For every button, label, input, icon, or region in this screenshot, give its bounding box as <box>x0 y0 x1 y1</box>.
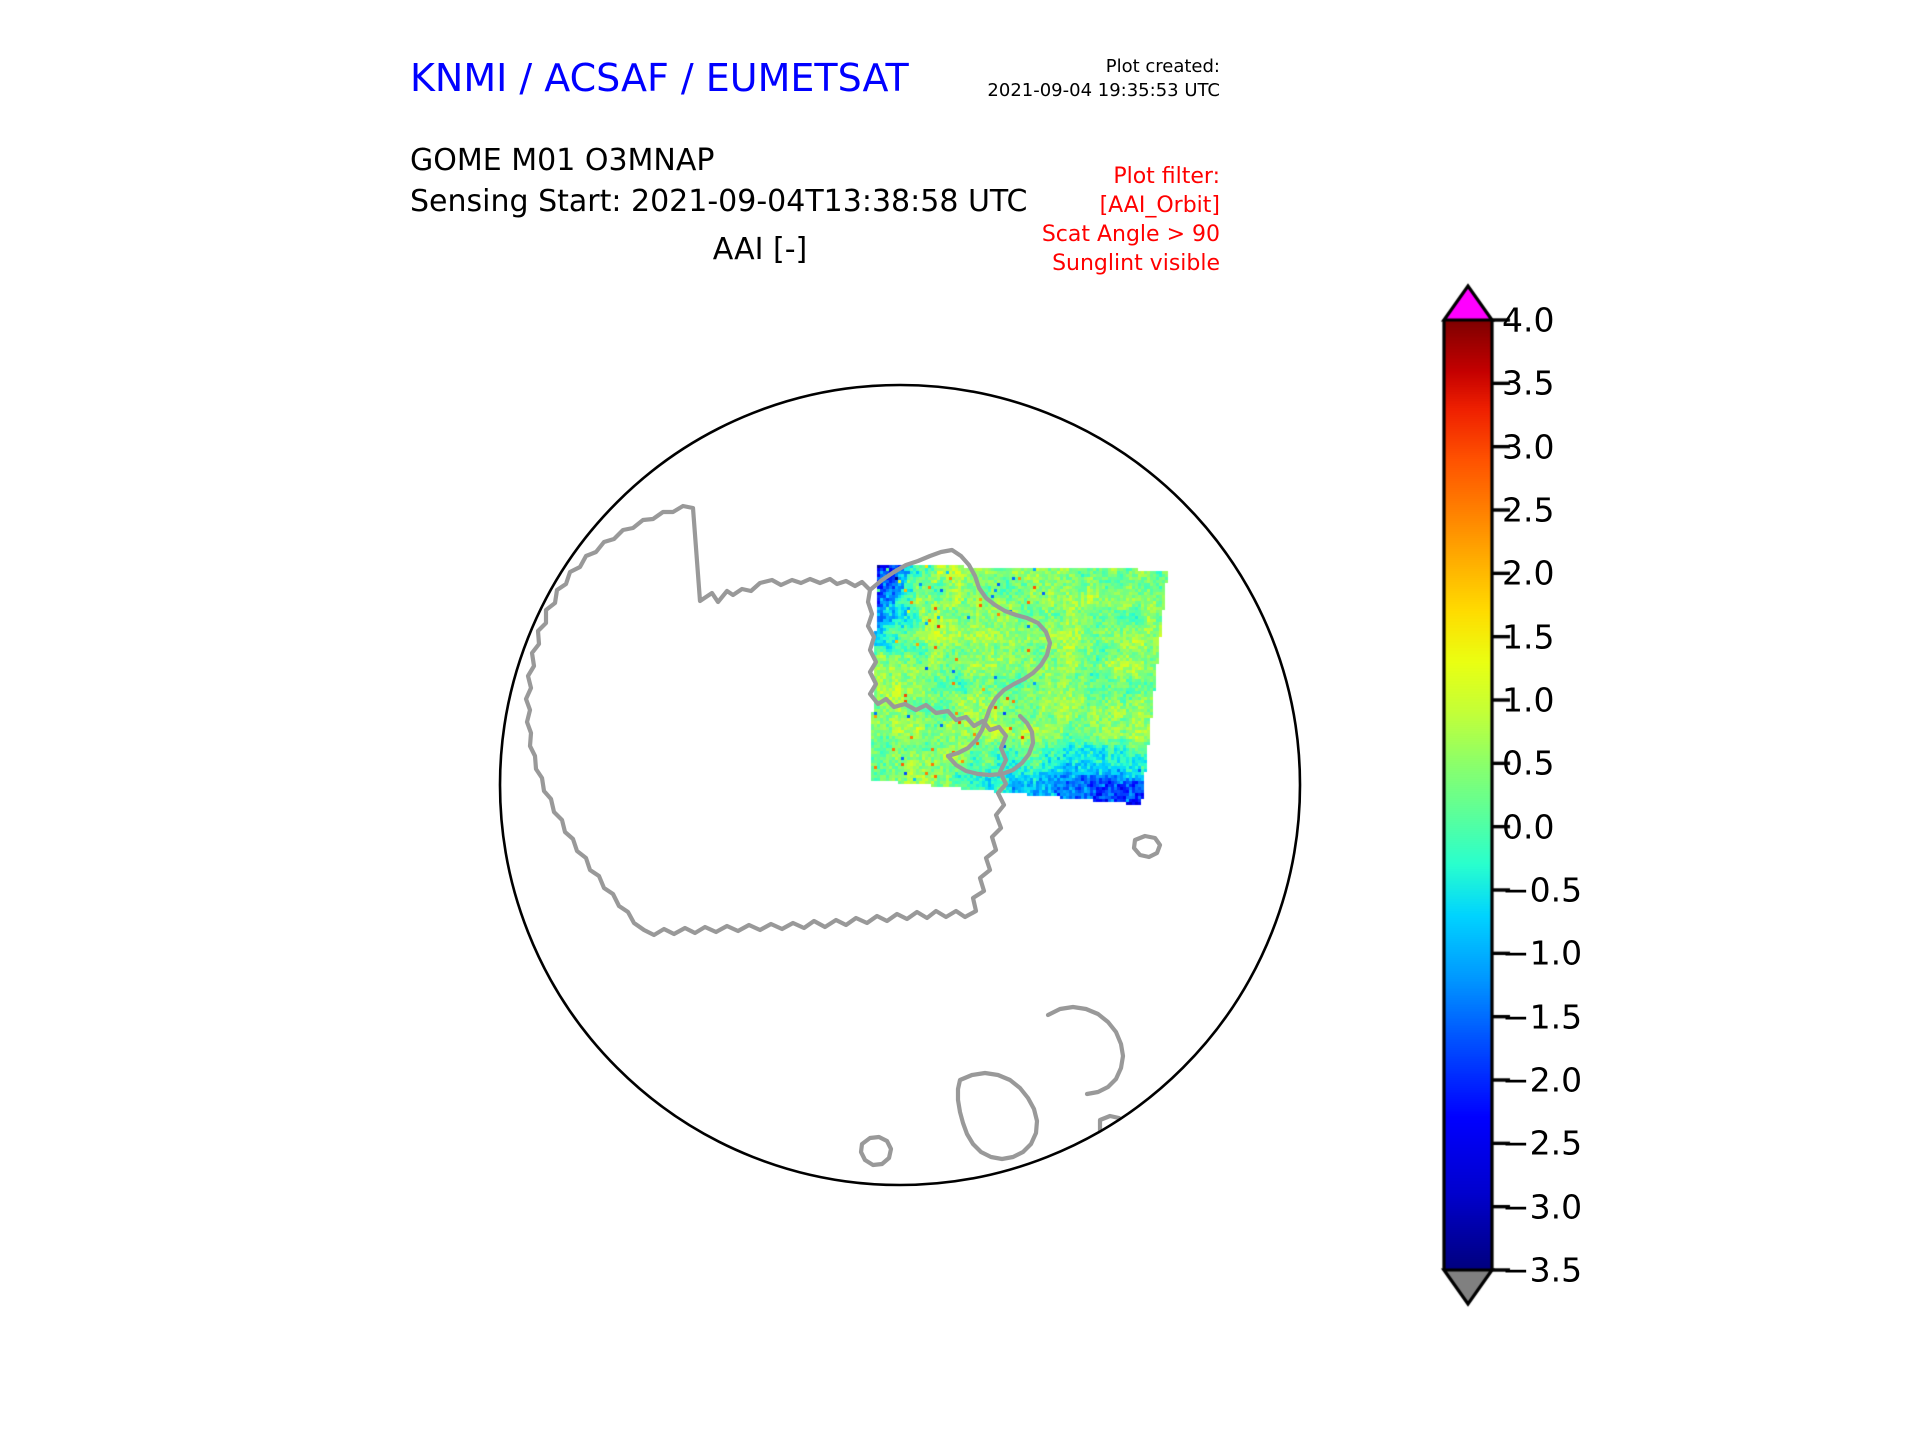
colorbar-tick-0: 4.0 <box>1502 301 1554 340</box>
plot-created-label: Plot created: <box>987 55 1220 79</box>
ronne-shelf-coast <box>948 716 1033 775</box>
island-southeast-2 <box>1048 1007 1123 1094</box>
colorbar-tick-5: 1.5 <box>1502 617 1554 656</box>
plot-created-time: 2021-09-04 19:35:53 UTC <box>987 79 1220 103</box>
plot-filter-label: Plot filter: <box>1042 162 1220 191</box>
colorbar-tick-15: −3.5 <box>1502 1251 1582 1290</box>
map-vector-overlay <box>400 280 1400 1290</box>
colorbar-tick-4: 2.0 <box>1502 554 1554 593</box>
island-north-1 <box>712 334 756 421</box>
colorbar-tick-9: −0.5 <box>1502 871 1582 910</box>
map-limb-circle <box>500 385 1300 1185</box>
island-west-small <box>456 767 473 786</box>
plot-created-block: Plot created: 2021-09-04 19:35:53 UTC <box>987 55 1220 104</box>
colorbar-tick-13: −2.5 <box>1502 1124 1582 1163</box>
colorbar: 4.03.53.02.52.01.51.00.50.0−0.5−1.0−1.5−… <box>1430 280 1760 1310</box>
polar-map <box>400 280 1400 1290</box>
variable-title: AAI [-] <box>410 232 1110 267</box>
island-east-small <box>1134 836 1160 857</box>
organisation-title: KNMI / ACSAF / EUMETSAT <box>410 56 909 100</box>
island-southeast-1 <box>958 1073 1037 1159</box>
page-title: GOME M01 O3MNAP Sensing Start: 2021-09-0… <box>410 140 1027 223</box>
colorbar-tick-2: 3.0 <box>1502 427 1554 466</box>
colorbar-tick-6: 1.0 <box>1502 681 1554 720</box>
colorbar-tick-8: 0.0 <box>1502 807 1554 846</box>
colorbar-tick-14: −3.0 <box>1502 1187 1582 1226</box>
instrument-title: GOME M01 O3MNAP <box>410 140 1027 181</box>
coastline-group <box>456 334 1160 1165</box>
plot-filter-name: [AAI_Orbit] <box>1042 191 1220 220</box>
colorbar-tick-11: −1.5 <box>1502 997 1582 1036</box>
colorbar-tick-3: 2.5 <box>1502 491 1554 530</box>
antarctica-coastline <box>526 506 1006 935</box>
colorbar-tick-1: 3.5 <box>1502 364 1554 403</box>
island-north-2 <box>543 347 570 375</box>
sensing-start-title: Sensing Start: 2021-09-04T13:38:58 UTC <box>410 181 1027 222</box>
antarctic-peninsula-coastline <box>870 550 1050 756</box>
colorbar-tick-7: 0.5 <box>1502 744 1554 783</box>
colorbar-tick-10: −1.0 <box>1502 934 1582 973</box>
colorbar-tick-12: −2.0 <box>1502 1061 1582 1100</box>
island-southeast-3 <box>861 1137 891 1165</box>
